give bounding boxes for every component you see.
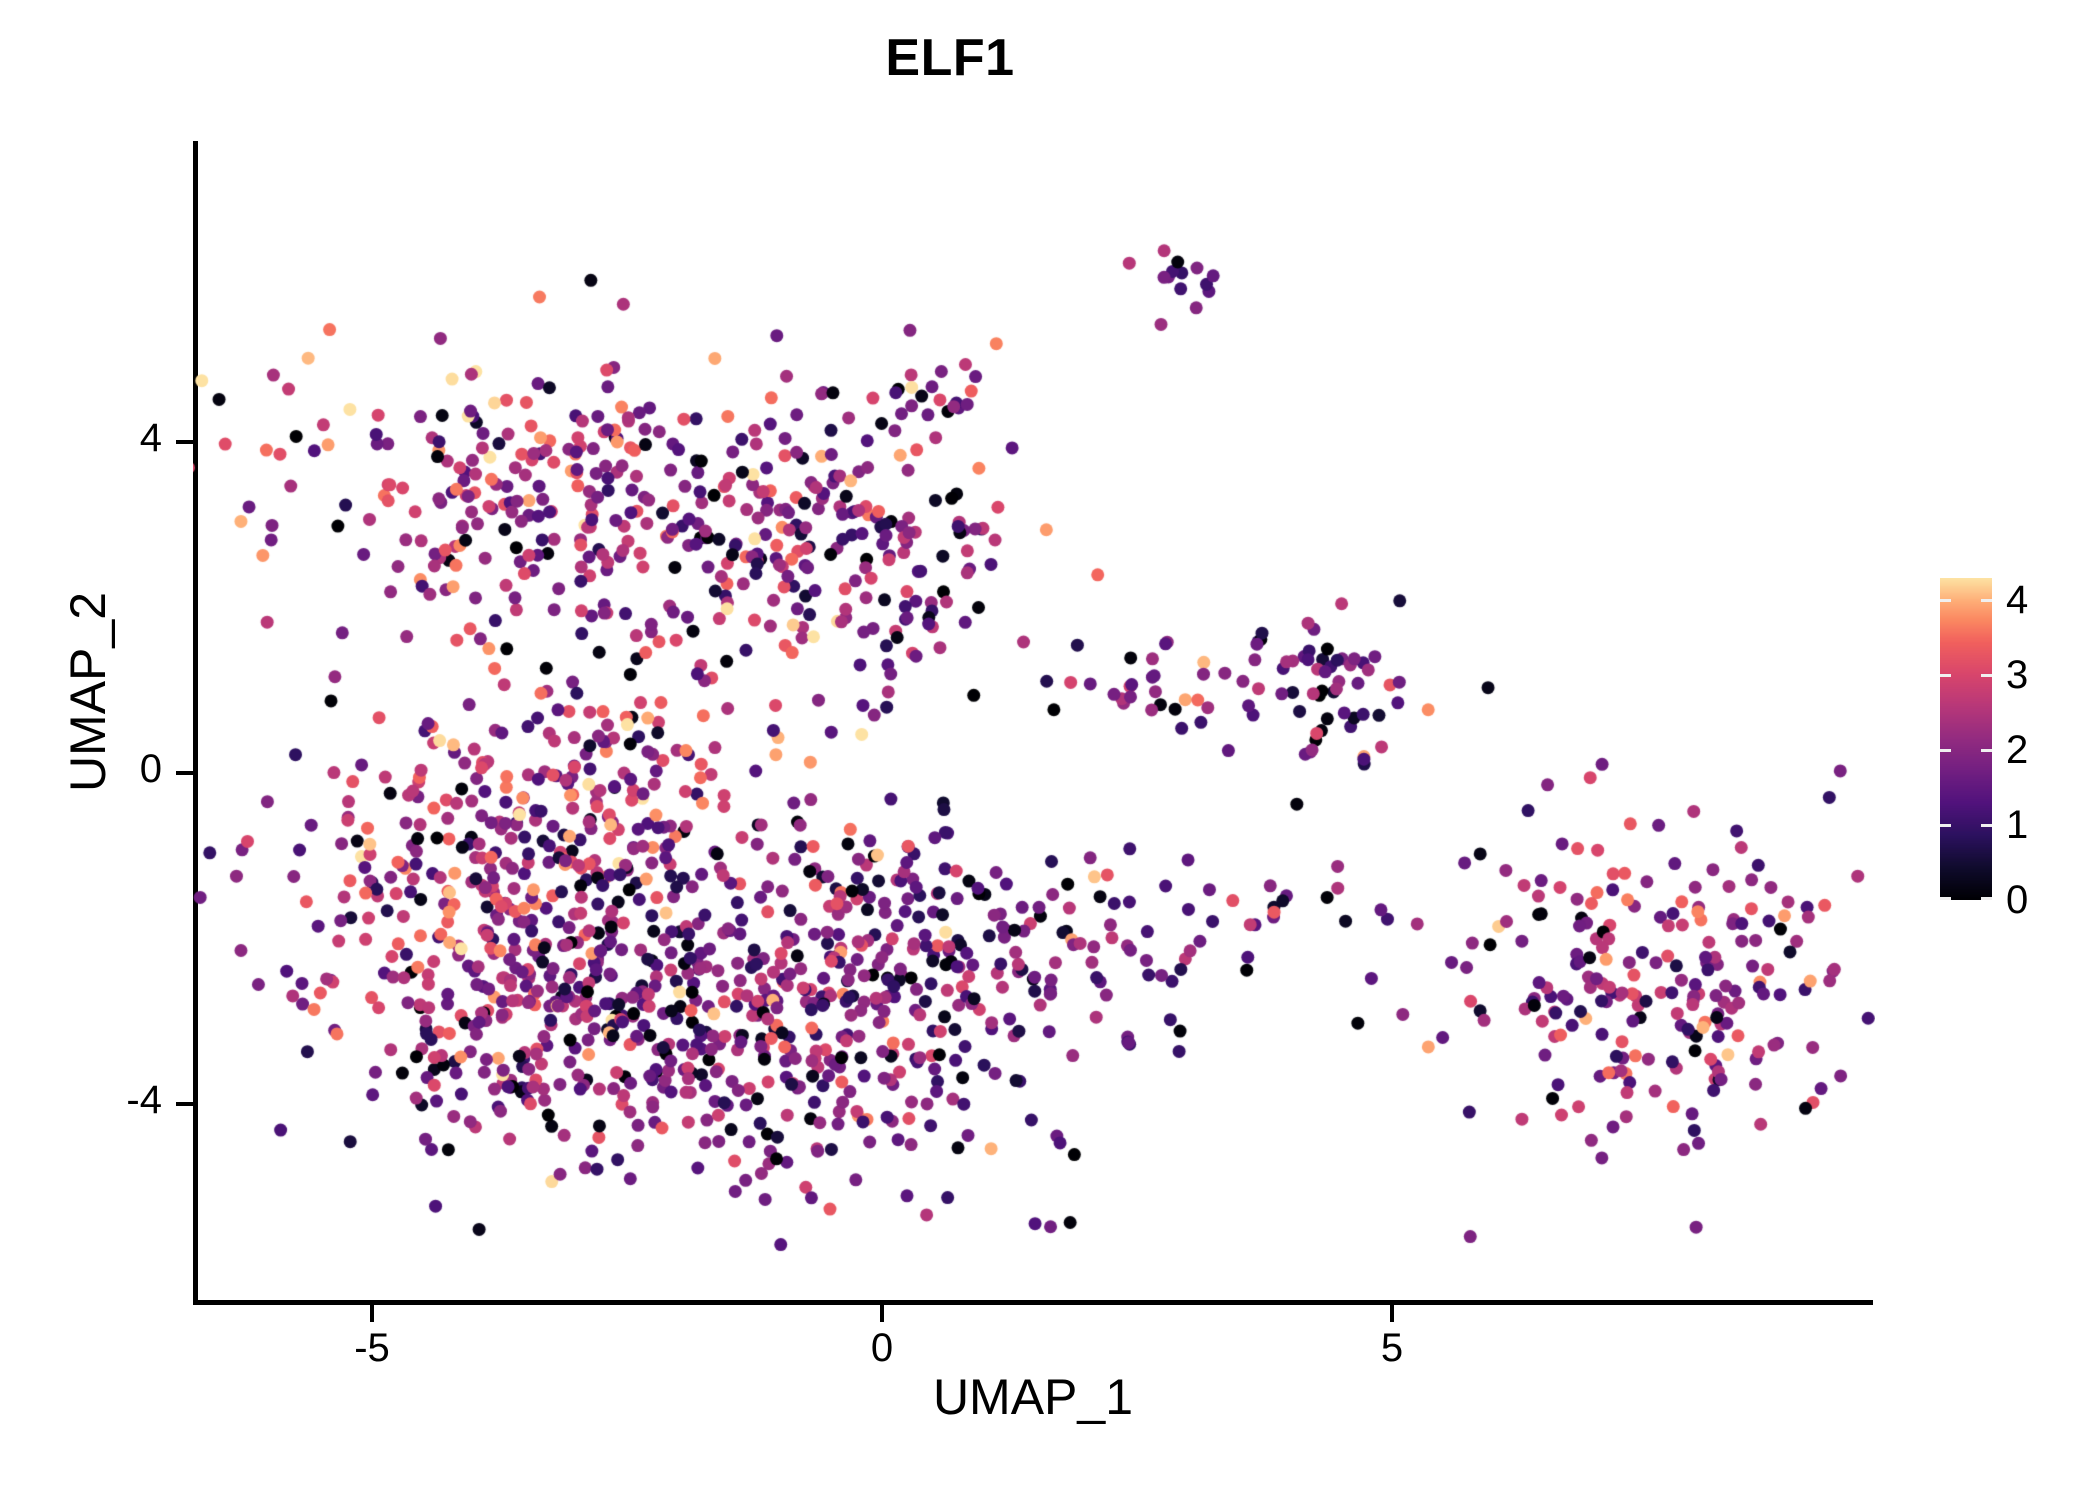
- page-title: ELF1: [0, 28, 1900, 88]
- x-axis-title: UMAP_1: [193, 1368, 1873, 1426]
- x-tick-label: 5: [1332, 1326, 1452, 1371]
- colorbar-tick-mark: [1940, 824, 1951, 827]
- colorbar-tick-label: 4: [2006, 580, 2028, 620]
- x-tick-mark: [370, 1305, 374, 1322]
- y-tick-mark: [176, 1102, 193, 1106]
- color-legend: 43210: [1940, 578, 2080, 900]
- x-tick-mark: [880, 1305, 884, 1322]
- colorbar-tick-label: 3: [2006, 655, 2028, 695]
- colorbar-tick-label: 2: [2006, 730, 2028, 770]
- y-tick-label: 0: [140, 747, 162, 792]
- umap-feature-plot: ELF1 -404 -505 UMAP_1 UMAP_2 43210: [0, 0, 2100, 1500]
- scatter-plot-area: [193, 141, 1875, 1305]
- colorbar: [1940, 578, 1992, 900]
- x-tick-label: 0: [822, 1326, 942, 1371]
- x-tick-label: -5: [312, 1326, 432, 1371]
- colorbar-tick-mark: [1981, 674, 1992, 677]
- colorbar-tick-label: 0: [2006, 880, 2028, 920]
- colorbar-tick-mark: [1981, 749, 1992, 752]
- y-axis-title: UMAP_2: [59, 342, 117, 1042]
- colorbar-tick-mark: [1981, 897, 1992, 900]
- y-tick-label: -4: [126, 1078, 162, 1123]
- colorbar-tick-mark: [1940, 897, 1951, 900]
- colorbar-tick-mark: [1940, 674, 1951, 677]
- colorbar-tick-label: 1: [2006, 805, 2028, 845]
- colorbar-tick-mark: [1940, 749, 1951, 752]
- colorbar-tick-mark: [1981, 599, 1992, 602]
- x-tick-mark: [1390, 1305, 1394, 1322]
- colorbar-gradient: [1940, 578, 1992, 900]
- y-tick-mark: [176, 440, 193, 444]
- y-tick-mark: [176, 771, 193, 775]
- colorbar-tick-mark: [1940, 599, 1951, 602]
- y-tick-label: 4: [140, 416, 162, 461]
- colorbar-tick-mark: [1981, 824, 1992, 827]
